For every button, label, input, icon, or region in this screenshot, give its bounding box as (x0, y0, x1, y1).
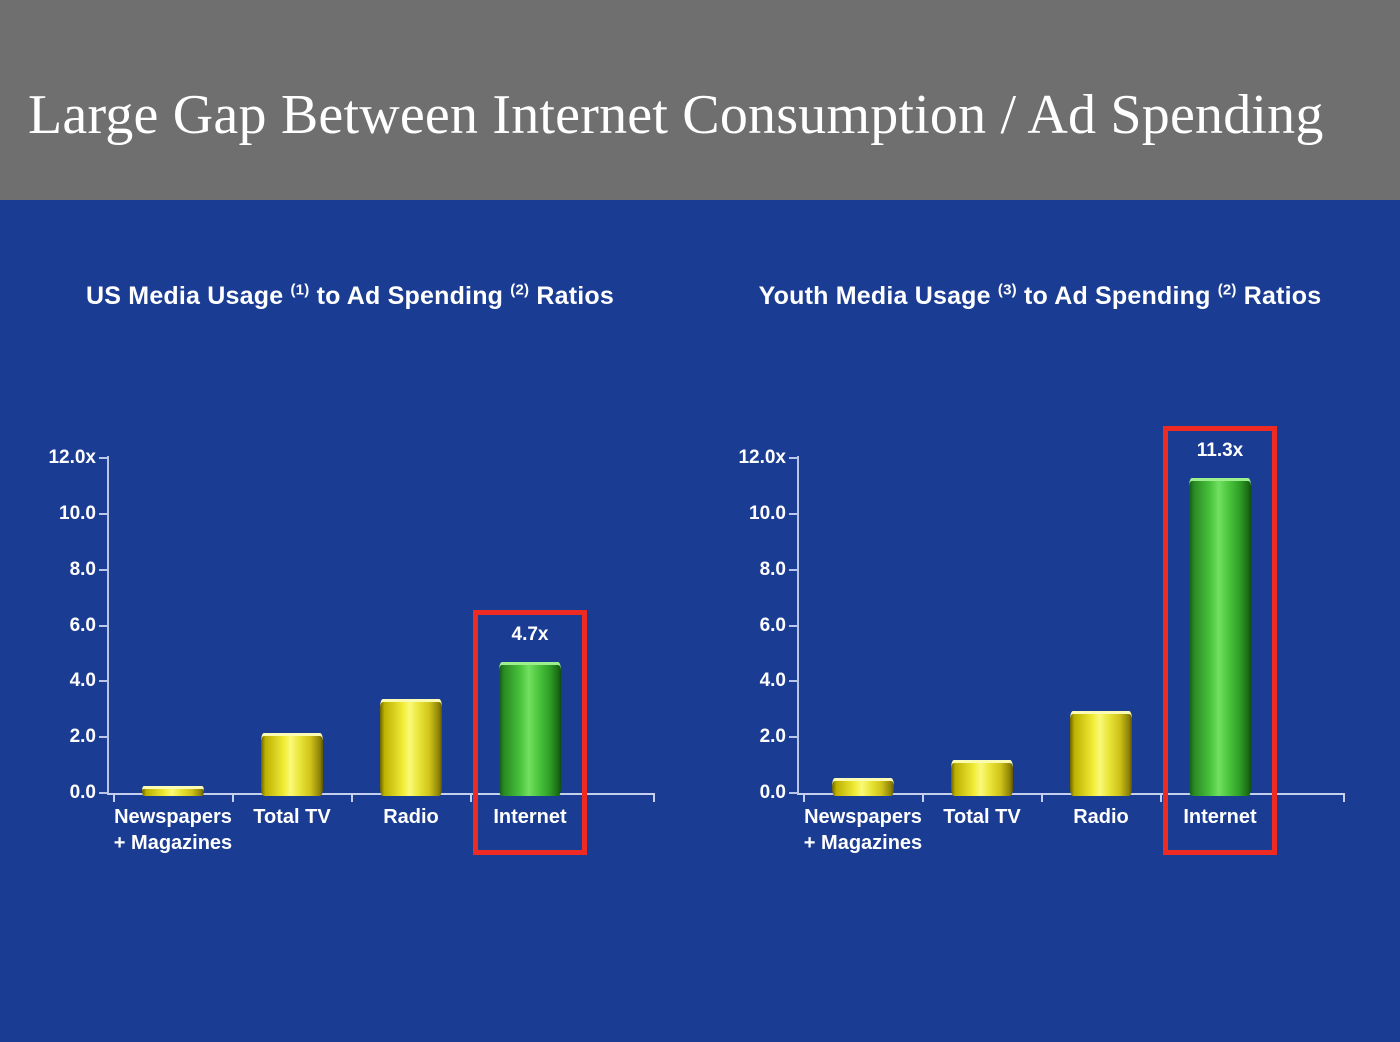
chart-right-y-tick-label: 4.0 (710, 670, 786, 692)
chart-right-x-tick (1343, 793, 1345, 802)
bar-internet (499, 662, 561, 796)
x-category-label-line1: Internet (455, 804, 605, 830)
x-category-label: Internet (455, 804, 605, 830)
chart-right-y-tick (789, 569, 798, 571)
chart-left-y-tick-label: 2.0 (20, 726, 96, 748)
chart-left-x-tick (351, 793, 353, 802)
chart-right-x-tick (922, 793, 924, 802)
slide-root: Large Gap Between Internet Consumption /… (0, 0, 1400, 1042)
chart-right-y-tick-label: 10.0 (710, 503, 786, 525)
chart-right-y-tick-label: 0.0 (710, 782, 786, 804)
chart-youth-media-usage: Youth Media Usage (3) to Ad Spending (2)… (710, 280, 1370, 820)
page-title: Large Gap Between Internet Consumption /… (28, 86, 1378, 145)
bar-value-label: 11.3x (1197, 440, 1244, 462)
chart-left-y-tick-label: 6.0 (20, 615, 96, 637)
chart-right-x-tick (803, 793, 805, 802)
bar-category-1 (261, 733, 323, 796)
bar-category-2 (1070, 711, 1132, 796)
bar-internet (1189, 478, 1251, 796)
bar-category-1 (951, 760, 1013, 797)
x-category-label-line2: + Magazines (788, 830, 938, 856)
chart-left-x-tick (653, 793, 655, 802)
chart-left-y-tick-label: 12.0x (20, 447, 96, 469)
chart-left-y-tick-label: 0.0 (20, 782, 96, 804)
chart-right-y-tick (789, 513, 798, 515)
x-category-label: Internet (1145, 804, 1295, 830)
chart-left-x-tick (470, 793, 472, 802)
chart-us-media-usage: US Media Usage (1) to Ad Spending (2) Ra… (20, 280, 680, 820)
chart-left-y-tick-label: 10.0 (20, 503, 96, 525)
chart-right-y-tick (789, 792, 798, 794)
chart-right-y-tick (789, 736, 798, 738)
chart-left-y-tick (99, 680, 108, 682)
chart-right-y-tick (789, 457, 798, 459)
chart-right-y-tick (789, 625, 798, 627)
chart-right-y-tick-label: 6.0 (710, 615, 786, 637)
chart-left-x-tick (113, 793, 115, 802)
bar-category-0 (142, 786, 204, 796)
chart-left-y-tick-label: 4.0 (20, 670, 96, 692)
chart-right-y-tick-label: 8.0 (710, 559, 786, 581)
chart-left-x-tick (232, 793, 234, 802)
chart-left-plot: 12.0x10.08.06.04.02.00.0 Newspapers+ Mag… (20, 280, 680, 820)
chart-left-y-tick (99, 569, 108, 571)
x-category-label-line1: Internet (1145, 804, 1295, 830)
chart-left-y-tick (99, 792, 108, 794)
chart-left-y-tick-label: 8.0 (20, 559, 96, 581)
chart-left-y-tick (99, 625, 108, 627)
chart-right-y-tick-label: 2.0 (710, 726, 786, 748)
chart-left-y-tick (99, 513, 108, 515)
bar-category-2 (380, 699, 442, 796)
chart-right-x-tick (1160, 793, 1162, 802)
x-category-label-line2: + Magazines (98, 830, 248, 856)
bar-category-0 (832, 778, 894, 796)
chart-right-y-tick (789, 680, 798, 682)
chart-right-x-tick (1041, 793, 1043, 802)
chart-left-y-tick (99, 736, 108, 738)
chart-right-plot: 12.0x10.08.06.04.02.00.0 Newspapers+ Mag… (710, 280, 1370, 820)
chart-right-y-tick-label: 12.0x (710, 447, 786, 469)
slide-body: US Media Usage (1) to Ad Spending (2) Ra… (0, 200, 1400, 1042)
chart-left-y-tick (99, 457, 108, 459)
bar-value-label: 4.7x (512, 624, 549, 646)
